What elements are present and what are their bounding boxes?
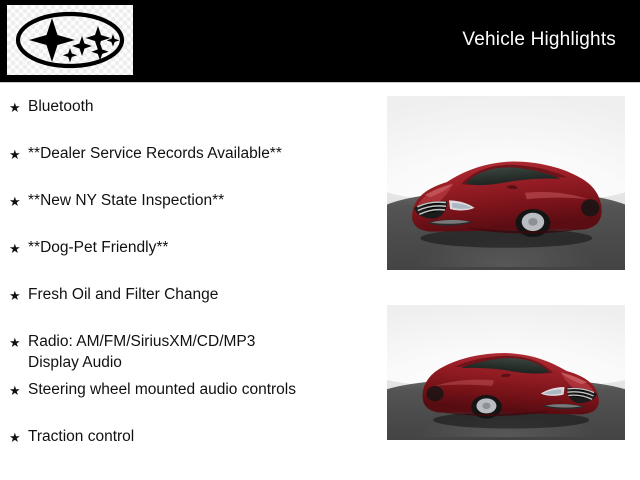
- star-bullet-icon: ★: [9, 373, 28, 402]
- list-item-label: Bluetooth: [28, 90, 385, 117]
- car-illustration-front-left: [404, 141, 609, 249]
- list-item-label: Radio: AM/FM/SiriusXM/CD/MP3 Display Aud…: [28, 325, 385, 373]
- car-illustration-front-right: [416, 335, 606, 430]
- list-item-label: **Dog-Pet Friendly**: [28, 231, 385, 258]
- list-item: ★ Steering wheel mounted audio controls: [0, 373, 385, 420]
- list-item: ★ Bluetooth: [0, 90, 385, 137]
- star-bullet-icon: ★: [9, 184, 28, 213]
- star-bullet-icon: ★: [9, 278, 28, 307]
- list-item-label: Traction control: [28, 420, 385, 447]
- page-header: Vehicle Highlights: [0, 0, 640, 82]
- vehicle-highlights-list: ★ Bluetooth ★ **Dealer Service Records A…: [0, 90, 385, 467]
- page-title: Vehicle Highlights: [462, 28, 616, 52]
- list-item: ★ Traction control: [0, 420, 385, 467]
- header-divider: [0, 82, 640, 83]
- vehicle-photo-front-left[interactable]: [387, 96, 625, 270]
- star-bullet-icon: ★: [9, 420, 28, 449]
- list-item: ★ **New NY State Inspection**: [0, 184, 385, 231]
- subaru-star-cluster-logo: [7, 5, 133, 75]
- star-bullet-icon: ★: [9, 90, 28, 119]
- list-item: ★ **Dog-Pet Friendly**: [0, 231, 385, 278]
- star-bullet-icon: ★: [9, 231, 28, 260]
- list-item: ★ Fresh Oil and Filter Change: [0, 278, 385, 325]
- star-bullet-icon: ★: [9, 137, 28, 166]
- list-item-label: Steering wheel mounted audio controls: [28, 373, 385, 400]
- vehicle-photo-front-right[interactable]: [387, 305, 625, 440]
- list-item-label: **Dealer Service Records Available**: [28, 137, 385, 164]
- list-item-label: **New NY State Inspection**: [28, 184, 385, 211]
- list-item: ★ Radio: AM/FM/SiriusXM/CD/MP3 Display A…: [0, 325, 385, 373]
- list-item-label: Fresh Oil and Filter Change: [28, 278, 385, 305]
- star-bullet-icon: ★: [9, 325, 28, 354]
- list-item: ★ **Dealer Service Records Available**: [0, 137, 385, 184]
